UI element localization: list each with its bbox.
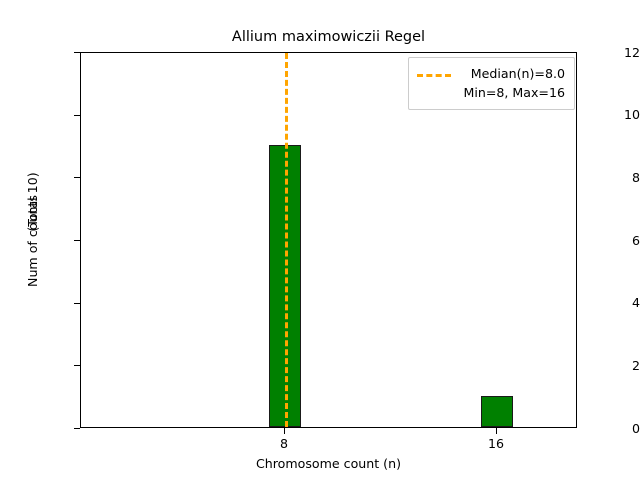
y-tick-label: 12 [574,46,640,59]
x-tick-mark [284,428,285,434]
y-tick-label: 8 [574,171,640,184]
y-tick-label: 4 [574,296,640,309]
bar-chromosome-16 [481,396,513,427]
page-title: Allium maximowiczii Regel [80,29,577,46]
legend-label-median: Median(n)=8.0 [471,66,565,81]
x-tick-mark [496,428,497,434]
y-tick-label: 2 [574,359,640,372]
legend-label-minmax: Min=8, Max=16 [463,85,565,100]
x-tick-label: 16 [456,437,536,451]
x-tick-label: 8 [244,437,324,451]
legend-entries: Median(n)=8.0 Min=8, Max=16 [409,58,574,109]
y-tick-label: 0 [574,422,640,435]
chart-figure: Allium maximowiczii Regel Num of counts … [0,0,640,480]
y-axis-label: Num of counts (Total 10) [0,0,40,480]
y-tick-label: 6 [574,234,640,247]
y-tick-label: 10 [574,108,640,121]
median-line [285,53,288,427]
y-axis-label-total: (Total 10) [25,92,41,312]
legend: Median(n)=8.0 Min=8, Max=16 [408,57,575,110]
x-axis-label: Chromosome count (n) [80,456,577,471]
median-dash-icon [417,74,451,77]
y-tick-mark [74,428,80,429]
